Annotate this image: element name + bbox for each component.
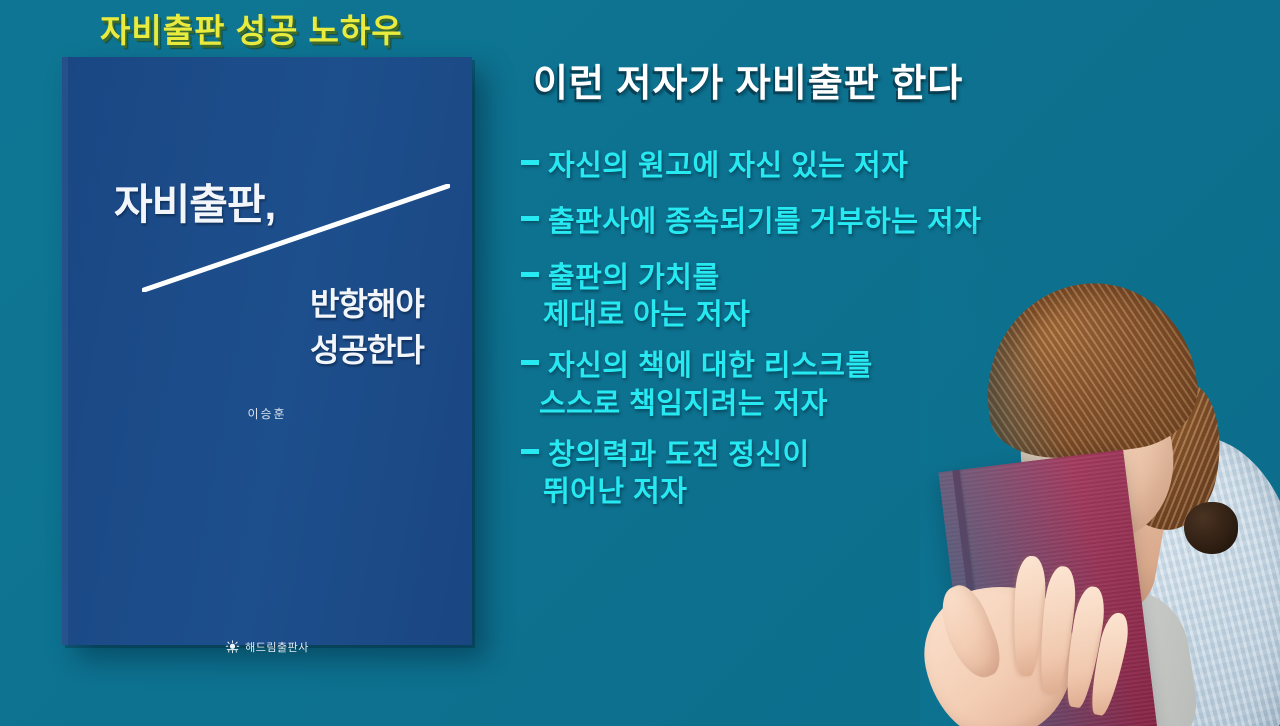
book-title-line-3: 성공한다 [310, 325, 424, 371]
book-author: 이승훈 [62, 405, 472, 422]
book-publisher: 해드림출판사 [62, 639, 472, 655]
dash-bullet-icon [521, 360, 539, 365]
book-title-line-1: 자비출판, [114, 171, 275, 232]
kicker-headline: 자비출판 성공 노하우 [100, 4, 403, 52]
dash-bullet-icon [521, 160, 539, 165]
page-title: 이런 저자가 자비출판 한다 [533, 52, 963, 107]
woman-with-book-photo [920, 226, 1280, 726]
list-item: 자신의 원고에 자신 있는 저자 [521, 148, 1221, 185]
list-item-line-1: 출판의 가치를 [548, 262, 720, 294]
dash-bullet-icon [521, 216, 539, 221]
dash-bullet-icon [521, 449, 539, 454]
hair-bun [1184, 502, 1238, 554]
sun-logo-icon [225, 640, 240, 655]
list-item-line-1: 자신의 책에 대한 리스크를 [548, 350, 873, 382]
list-item-line-1: 창의력과 도전 정신이 [548, 439, 810, 471]
dash-bullet-icon [521, 272, 539, 277]
hand-upper [948, 560, 1138, 720]
book-title-line-2: 반항해야 [310, 279, 424, 325]
book-cover: 자비출판, 반항해야 성공한다 이승훈 해드림출판사 [62, 57, 472, 645]
book-spine [62, 57, 68, 645]
list-item-line-1: 출판사에 종속되기를 거부하는 저자 [548, 206, 981, 238]
list-item-line-1: 자신의 원고에 자신 있는 저자 [548, 150, 908, 182]
poster-canvas: 자비출판 성공 노하우 자비출판, 반항해야 성공한다 이승훈 [0, 0, 1280, 726]
book-publisher-label: 해드림출판사 [245, 639, 309, 655]
